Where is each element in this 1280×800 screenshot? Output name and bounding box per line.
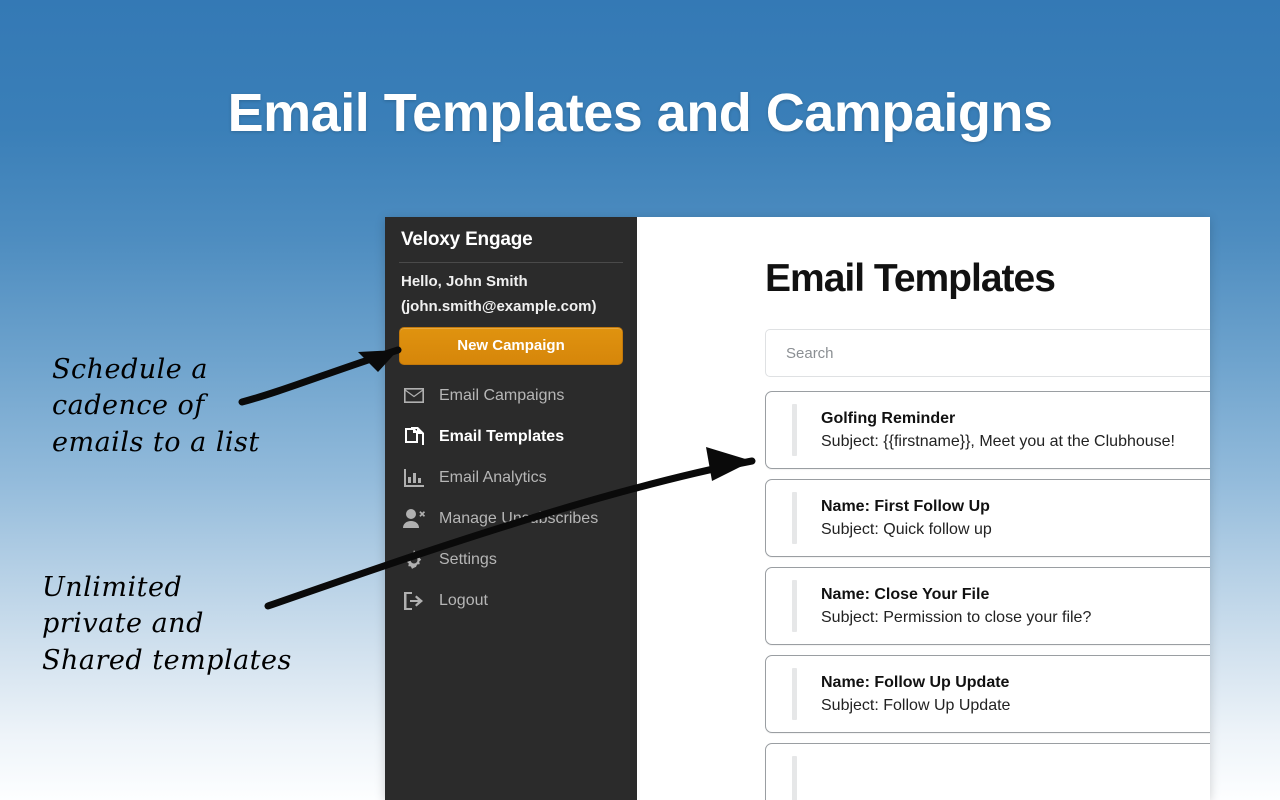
search-input[interactable] (784, 344, 1210, 363)
template-name: Name: Close Your File (821, 583, 1091, 606)
envelope-icon (403, 386, 425, 406)
sidebar-item-manage-unsubscribes[interactable]: Manage Unsubscribes (385, 498, 637, 539)
sidebar: Veloxy Engage Hello, John Smith (john.sm… (385, 217, 637, 800)
card-text: Name: Close Your File Subject: Permissio… (766, 583, 1091, 629)
annotation-schedule-cadence: Schedule a cadence of emails to a list (52, 352, 260, 461)
template-name: Golfing Reminder (821, 407, 1175, 430)
user-email: (john.smith@example.com) (385, 290, 637, 315)
bar-chart-icon (403, 468, 425, 488)
template-subject: Subject: Follow Up Update (821, 694, 1010, 717)
template-name: Name: Follow Up Update (821, 671, 1010, 694)
brand-title: Veloxy Engage (385, 217, 637, 262)
template-card[interactable] (765, 743, 1210, 800)
arrow-to-new-campaign (242, 350, 398, 402)
template-subject: Subject: Quick follow up (821, 518, 992, 541)
card-text: Name: First Follow Up Subject: Quick fol… (766, 495, 992, 541)
card-accent-bar (792, 580, 797, 632)
copy-pages-icon (403, 427, 425, 447)
template-card[interactable]: Name: Close Your File Subject: Permissio… (765, 567, 1210, 645)
sidebar-item-logout[interactable]: Logout (385, 580, 637, 621)
sidebar-item-email-analytics[interactable]: Email Analytics (385, 457, 637, 498)
card-accent-bar (792, 668, 797, 720)
template-subject: Subject: {{firstname}}, Meet you at the … (821, 430, 1175, 453)
app-window: Veloxy Engage Hello, John Smith (john.sm… (385, 217, 1210, 800)
gear-icon (403, 550, 425, 570)
sidebar-item-label: Email Analytics (439, 469, 547, 487)
content-heading: Email Templates (637, 217, 1210, 301)
main-content: Email Templates Golfing Reminder Subject… (637, 217, 1210, 800)
sidebar-item-label: Email Templates (439, 428, 564, 446)
sidebar-item-settings[interactable]: Settings (385, 539, 637, 580)
card-text: Name: Follow Up Update Subject: Follow U… (766, 671, 1010, 717)
template-name: Name: First Follow Up (821, 495, 992, 518)
page-title: Email Templates and Campaigns (0, 82, 1280, 144)
sidebar-item-label: Email Campaigns (439, 387, 564, 405)
template-card[interactable]: Name: Follow Up Update Subject: Follow U… (765, 655, 1210, 733)
annotation-unlimited-templates: Unlimited private and Shared templates (42, 570, 292, 679)
card-accent-bar (792, 756, 797, 800)
logout-icon (403, 591, 425, 611)
card-accent-bar (792, 492, 797, 544)
card-accent-bar (792, 404, 797, 456)
sidebar-item-label: Logout (439, 592, 488, 610)
user-greeting: Hello, John Smith (385, 263, 637, 290)
template-card[interactable]: Name: First Follow Up Subject: Quick fol… (765, 479, 1210, 557)
template-subject: Subject: Permission to close your file? (821, 606, 1091, 629)
user-remove-icon (403, 509, 425, 529)
sidebar-item-email-templates[interactable]: Email Templates (385, 416, 637, 457)
new-campaign-button[interactable]: New Campaign (399, 327, 623, 365)
card-text: Golfing Reminder Subject: {{firstname}},… (766, 407, 1175, 453)
sidebar-item-email-campaigns[interactable]: Email Campaigns (385, 375, 637, 416)
template-card[interactable]: Golfing Reminder Subject: {{firstname}},… (765, 391, 1210, 469)
sidebar-nav: Email Campaigns Email Templates Email An… (385, 375, 637, 621)
search-box[interactable] (765, 329, 1210, 377)
sidebar-item-label: Settings (439, 551, 497, 569)
template-list: Golfing Reminder Subject: {{firstname}},… (765, 391, 1210, 800)
sidebar-item-label: Manage Unsubscribes (439, 510, 598, 528)
